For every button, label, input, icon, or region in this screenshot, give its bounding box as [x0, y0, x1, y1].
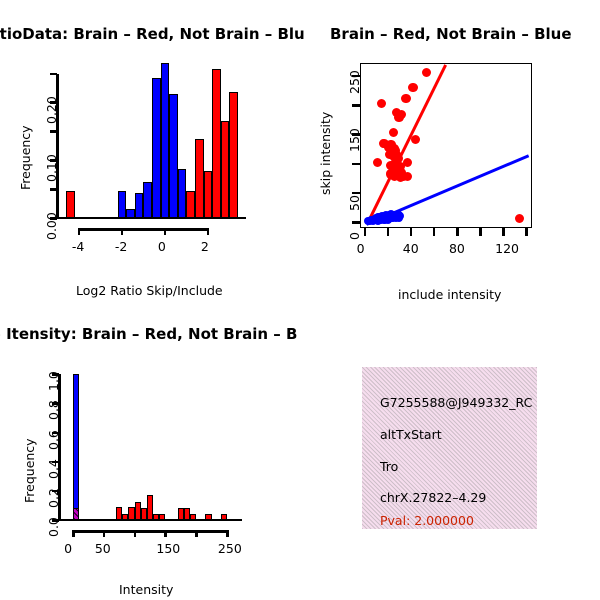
- scatter-y-tick: [352, 163, 360, 166]
- scatter-x-tick: [433, 228, 436, 236]
- scatter-x-tick: [479, 228, 482, 236]
- scatter-point: [411, 135, 420, 144]
- scatter-plot-area: 05015025004080120: [300, 0, 600, 270]
- ratio-histogram-bar: [169, 94, 178, 218]
- intensity-histogram-x-tick: [195, 530, 198, 537]
- ratio-histogram-bar: [212, 69, 221, 218]
- intensity-histogram-plot-area: 0.00.20.40.60.81.0050150250: [0, 305, 300, 570]
- intensity-histogram-x-tick: [103, 530, 106, 537]
- ratio-histogram-y-tick: [50, 188, 57, 191]
- intensity-histogram-x-tick: [72, 530, 75, 537]
- intensity-histogram-x-axis: [73, 530, 227, 533]
- scatter-point: [515, 214, 524, 223]
- figure-canvas: RatioData: Brain – Red, Not Brain – Blu …: [0, 0, 600, 600]
- annotation-line-coordinates: chrX.27822–4.29: [380, 490, 486, 505]
- scatter-y-tick: [352, 221, 360, 224]
- scatter-xlabel: include intensity: [398, 287, 501, 302]
- intensity-histogram-y-tick-label: 1.0: [46, 371, 61, 391]
- panel-ratio-histogram: RatioData: Brain – Red, Not Brain – Blu …: [0, 0, 300, 305]
- intensity-histogram-bar: [205, 514, 211, 520]
- annotation-line-tissue: Tro: [380, 459, 398, 474]
- intensity-histogram-bar: [221, 514, 227, 520]
- ratio-histogram-bar: [229, 92, 238, 218]
- scatter-x-tick: [387, 228, 390, 236]
- scatter-x-tick: [364, 228, 367, 236]
- intensity-histogram-bar: [73, 508, 79, 520]
- ratio-histogram-xlabel: Log2 Ratio Skip/Include: [76, 283, 223, 298]
- ratio-histogram-x-axis: [79, 228, 208, 231]
- ratio-histogram-bar: [186, 191, 195, 218]
- scatter-y-tick-label: 0: [347, 232, 362, 240]
- intensity-histogram-x-tick-label: 150: [156, 541, 180, 556]
- ratio-histogram-y-tick: [50, 130, 57, 133]
- annotation-line-gene: G7255588@J949332_RC: [380, 395, 532, 410]
- ratio-histogram-bar: [118, 191, 127, 218]
- scatter-point: [377, 99, 386, 108]
- ratio-histogram-bar: [178, 169, 187, 218]
- intensity-histogram-x-tick-label: 50: [95, 541, 111, 556]
- scatter-frame: [360, 63, 532, 228]
- scatter-point: [384, 216, 392, 224]
- annotation-box: G7255588@J949332_RC altTxStart Tro chrX.…: [362, 367, 537, 529]
- scatter-point: [395, 214, 403, 222]
- scatter-x-tick-label: 0: [357, 241, 365, 256]
- intensity-histogram-x-tick: [226, 530, 229, 537]
- scatter-x-tick: [410, 228, 413, 236]
- ratio-histogram-bar: [221, 121, 230, 218]
- ratio-histogram-bar: [143, 182, 152, 218]
- scatter-point: [373, 158, 382, 167]
- annotation-line-pval: Pval: 2.000000: [380, 513, 474, 528]
- ratio-histogram-bar: [135, 193, 144, 218]
- scatter-point: [408, 83, 417, 92]
- scatter-y-tick-label: 250: [347, 70, 362, 94]
- ratio-histogram-x-tick: [164, 228, 167, 235]
- ratio-histogram-bar: [152, 78, 161, 218]
- scatter-fit-line: [366, 64, 447, 224]
- scatter-point: [401, 94, 410, 103]
- ratio-histogram-plot-area: 0.000.100.20-4-202: [0, 0, 300, 260]
- scatter-x-tick-label: 40: [403, 241, 419, 256]
- ratio-histogram-bar: [195, 139, 204, 218]
- panel-intensity-scatter: Brain – Red, Not Brain – Blue skip inten…: [300, 0, 600, 305]
- intensity-histogram-x-tick: [164, 530, 167, 537]
- intensity-histogram-bar: [159, 514, 165, 520]
- scatter-y-tick-label: 50: [347, 195, 362, 211]
- intensity-histogram-x-tick-label: 0: [64, 541, 72, 556]
- scatter-y-tick: [352, 104, 360, 107]
- scatter-x-tick-label: 120: [495, 241, 519, 256]
- ratio-histogram-x-tick-label: 2: [201, 239, 209, 254]
- ratio-histogram-bar: [161, 63, 170, 218]
- ratio-histogram-y-tick-label: 0.20: [44, 97, 59, 125]
- scatter-x-tick-label: 80: [449, 241, 465, 256]
- ratio-histogram-x-tick: [78, 228, 81, 235]
- scatter-x-tick: [525, 228, 528, 236]
- ratio-histogram-x-tick: [207, 228, 210, 235]
- ratio-histogram-bar: [204, 171, 213, 218]
- scatter-point: [389, 128, 398, 137]
- scatter-y-tick-label: 150: [347, 129, 362, 153]
- ratio-histogram-bar: [126, 209, 135, 218]
- scatter-point: [394, 113, 403, 122]
- intensity-histogram-x-tick-label: 250: [218, 541, 242, 556]
- intensity-histogram-xlabel: Intensity: [119, 582, 173, 597]
- scatter-point: [422, 68, 431, 77]
- intensity-histogram-x-tick: [134, 530, 137, 537]
- intensity-histogram-y-tick-label: 0.2: [46, 488, 61, 508]
- scatter-x-tick: [456, 228, 459, 236]
- ratio-histogram-y-tick: [50, 73, 57, 76]
- ratio-histogram-x-tick-label: -4: [72, 239, 84, 254]
- intensity-histogram-y-tick-label: 0.8: [46, 401, 61, 421]
- scatter-x-tick: [502, 228, 505, 236]
- ratio-histogram-x-tick: [121, 228, 124, 235]
- ratio-histogram-bar: [66, 191, 75, 218]
- intensity-histogram-bar: [190, 514, 196, 520]
- intensity-histogram-bar: [73, 374, 79, 520]
- ratio-histogram-x-tick-label: 0: [158, 239, 166, 254]
- ratio-histogram-x-tick-label: -2: [115, 239, 127, 254]
- annotation-line-event-type: altTxStart: [380, 427, 442, 442]
- intensity-histogram-y-tick-label: 0.6: [46, 430, 61, 450]
- panel-annotation: G7255588@J949332_RC altTxStart Tro chrX.…: [300, 305, 600, 600]
- panel-intensity-histogram: ne Itensity: Brain – Red, Not Brain – B …: [0, 305, 300, 600]
- ratio-histogram-y-tick-label: 0.10: [44, 154, 59, 182]
- scatter-point: [403, 172, 412, 181]
- intensity-histogram-y-tick-label: 0.4: [46, 459, 61, 479]
